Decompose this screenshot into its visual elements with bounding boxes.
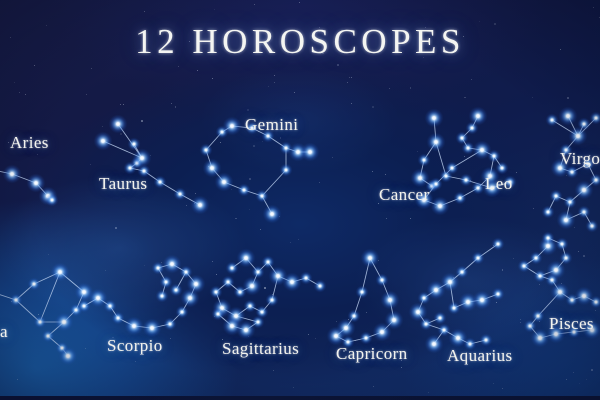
constellation-label-sagittarius: Sagittarius bbox=[222, 340, 299, 357]
constellation-label-virgo: Virgo bbox=[560, 150, 600, 167]
constellation-label-cancer: Cancer bbox=[379, 186, 430, 203]
constellation-label-libra: a bbox=[0, 323, 8, 340]
constellation-label-aries: Aries bbox=[10, 134, 49, 151]
horoscope-poster: 12 HOROSCOPES AriesTaurusGeminiCancerLeo… bbox=[0, 0, 600, 400]
page-title: 12 HOROSCOPES bbox=[0, 24, 600, 59]
constellation-label-gemini: Gemini bbox=[245, 116, 298, 133]
constellation-label-pisces: Pisces bbox=[549, 315, 594, 332]
constellation-label-aquarius: Aquarius bbox=[447, 347, 513, 364]
bottom-edge-strip bbox=[0, 396, 600, 400]
constellation-label-taurus: Taurus bbox=[99, 175, 147, 192]
constellation-label-scorpio: Scorpio bbox=[107, 337, 163, 354]
constellation-label-capricorn: Capricorn bbox=[336, 345, 408, 362]
constellation-label-leo: Leo bbox=[485, 175, 513, 192]
